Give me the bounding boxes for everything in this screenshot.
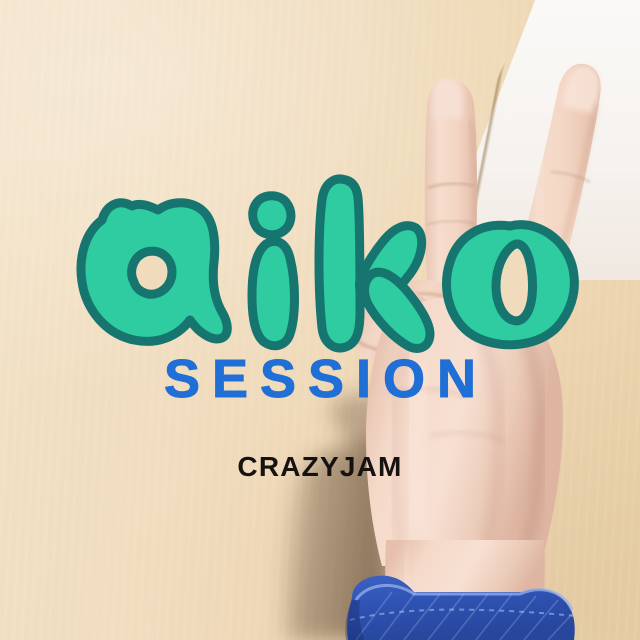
letter-o-glyph xyxy=(446,225,574,345)
poster-canvas: SESSION CRAZYJAM xyxy=(0,0,640,640)
letter-i-glyph xyxy=(252,196,295,346)
letter-a-glyph xyxy=(81,203,227,342)
letter-k-glyph xyxy=(319,179,430,348)
tagline-crazyjam: CRAZYJAM xyxy=(0,452,640,482)
subtitle-session: SESSION xyxy=(0,352,640,406)
brand-wordmark xyxy=(72,170,592,366)
